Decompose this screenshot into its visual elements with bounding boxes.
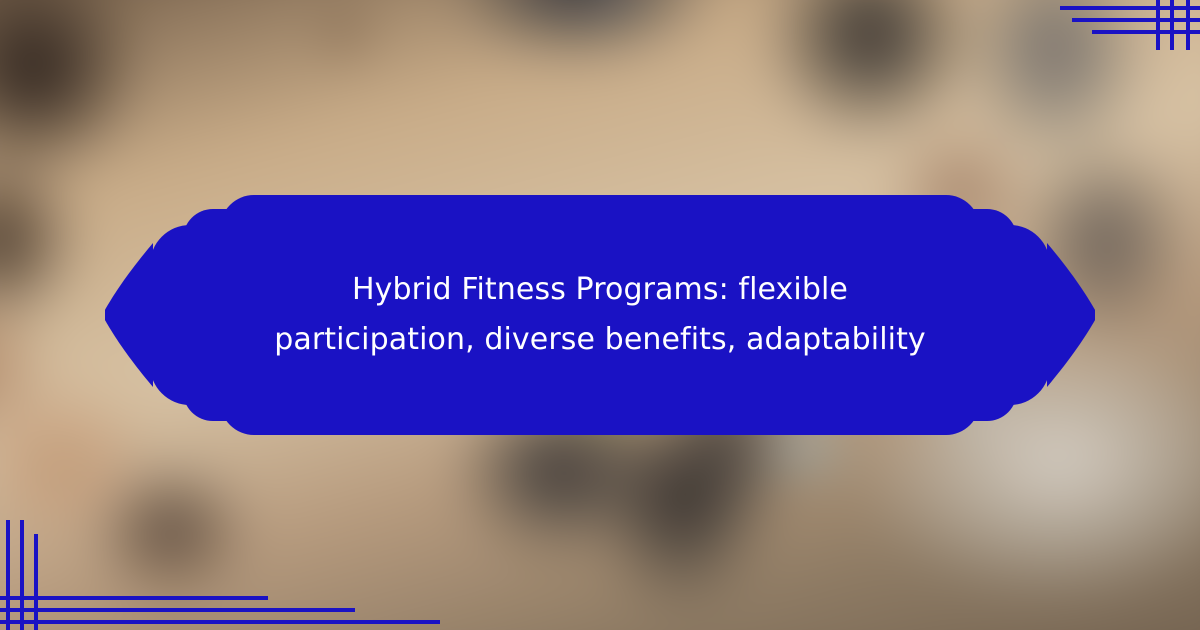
- ornament-h-line-1: [0, 608, 355, 612]
- ornament-h-line-0: [0, 620, 440, 624]
- ornament-h-line-1: [1072, 18, 1200, 22]
- ornament-v-line-1: [1170, 0, 1174, 50]
- title-badge: Hybrid Fitness Programs: flexible partic…: [105, 195, 1095, 435]
- badge-text-block: Hybrid Fitness Programs: flexible partic…: [105, 195, 1095, 435]
- ornament-v-line-2: [1186, 0, 1190, 50]
- ornament-v-line-1: [20, 520, 24, 630]
- ornament-h-line-2: [1092, 30, 1200, 34]
- title-line-2: participation, diverse benefits, adaptab…: [274, 315, 926, 365]
- ornament-h-line-0: [1060, 6, 1200, 10]
- ornament-v-line-0: [6, 520, 10, 630]
- ornament-v-line-2: [34, 534, 38, 630]
- corner-lines-bottom-left: [0, 580, 440, 630]
- title-line-1: Hybrid Fitness Programs: flexible: [352, 265, 848, 315]
- corner-lines-top-right: [1060, 0, 1200, 50]
- share-card-canvas: Hybrid Fitness Programs: flexible partic…: [0, 0, 1200, 630]
- ornament-h-line-2: [0, 596, 268, 600]
- ornament-v-line-0: [1156, 0, 1160, 50]
